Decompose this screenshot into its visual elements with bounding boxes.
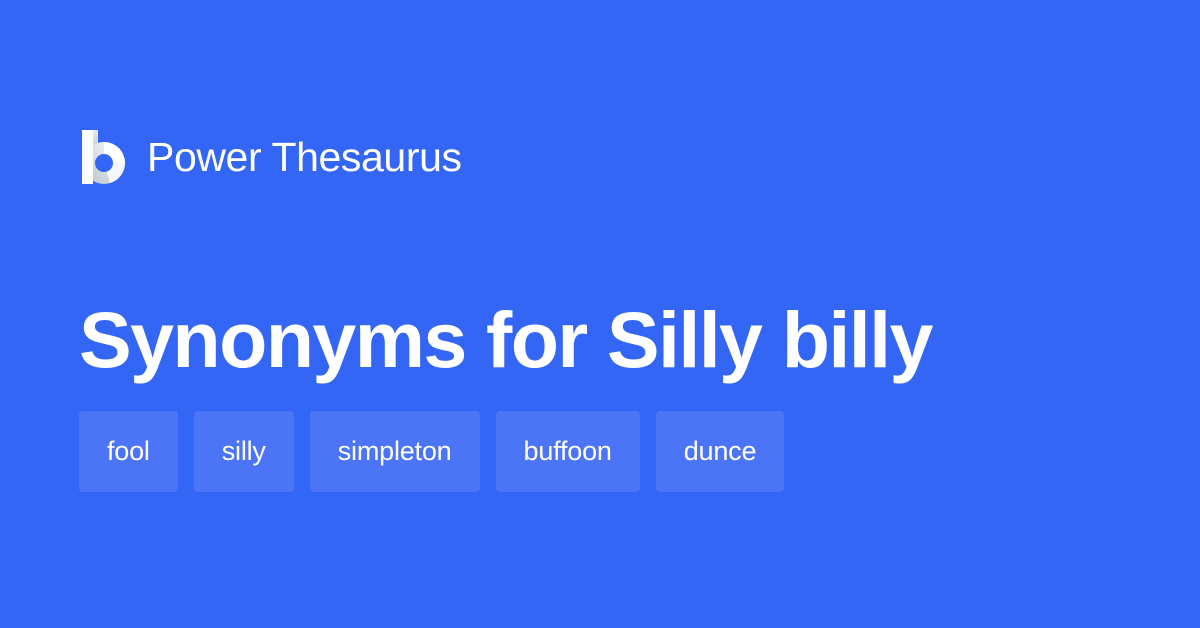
- social-preview-card: power thesaurus Synonyms for Silly billy…: [0, 0, 1200, 628]
- brand-header[interactable]: power thesaurus: [79, 126, 462, 188]
- synonym-chip-list: fool silly simpleton buffoon dunce: [79, 411, 784, 492]
- synonym-chip[interactable]: dunce: [656, 411, 785, 492]
- synonym-chip[interactable]: simpleton: [310, 411, 480, 492]
- power-thesaurus-b-logo-icon: [79, 129, 125, 185]
- page-title: Synonyms for Silly billy: [79, 300, 1129, 379]
- brand-name: power thesaurus: [147, 137, 462, 178]
- synonym-chip[interactable]: fool: [79, 411, 178, 492]
- synonym-chip[interactable]: silly: [194, 411, 294, 492]
- synonym-chip[interactable]: buffoon: [496, 411, 640, 492]
